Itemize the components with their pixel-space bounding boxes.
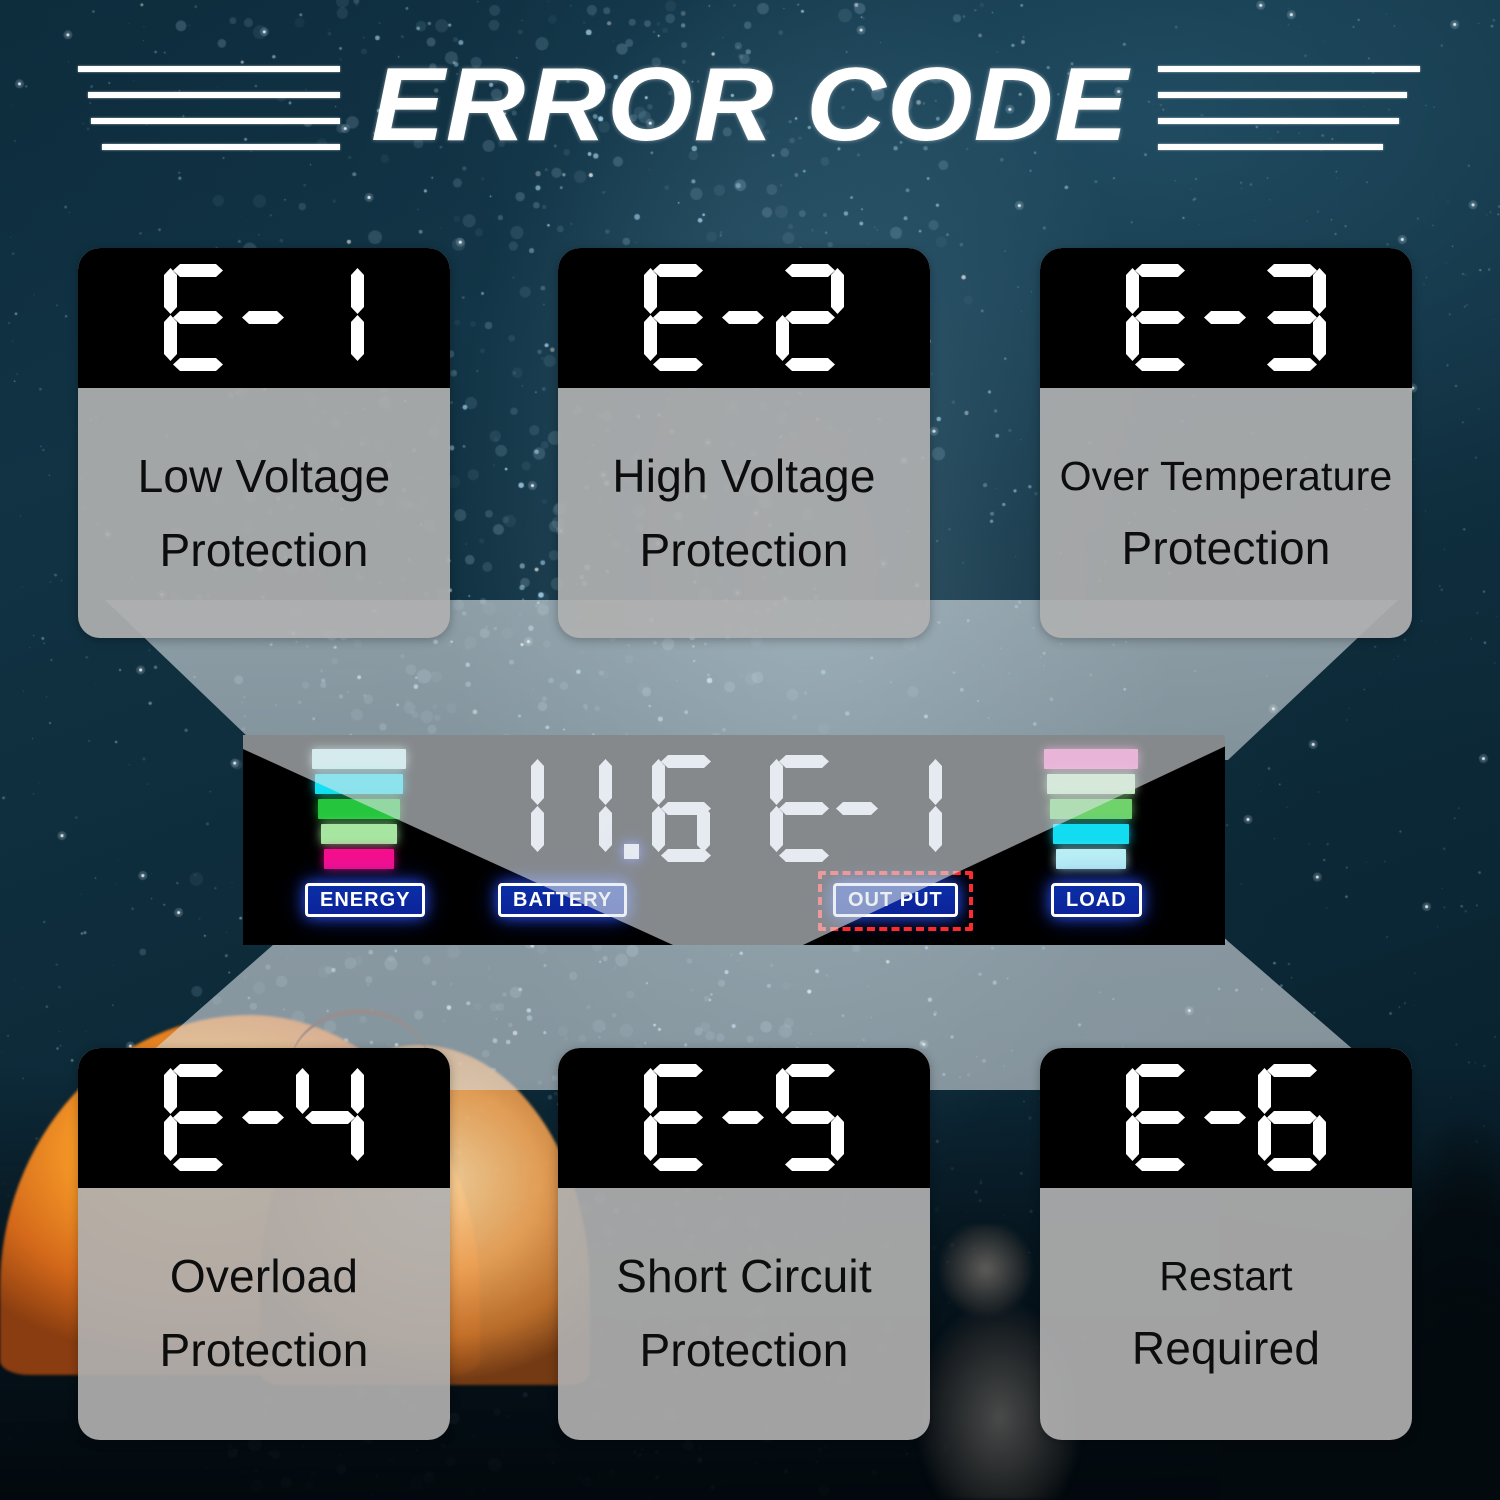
segment-f [164,268,177,314]
segment-f [1126,268,1139,314]
seven-segment-char-E [1124,1062,1196,1174]
seven-segment-char-4 [294,1062,366,1174]
segment-g [1135,311,1185,324]
segment-d [779,849,829,862]
seven-segment-char-E [162,262,234,374]
seven-segment-dash [722,1062,766,1174]
error-card-description: RestartRequired [1040,1188,1412,1438]
segment-f [644,1068,657,1114]
error-description-line-1: Short Circuit [616,1253,872,1299]
seven-segment-char-3 [1256,262,1328,374]
segment-a [1135,264,1185,277]
segment-g [1267,1111,1317,1124]
segment-b [929,759,942,805]
segment-e [770,806,783,852]
energy-label: ENERGY [305,883,425,917]
seven-segment-char-1 [882,753,944,863]
segment-g [836,802,878,815]
seven-segment-char-E [1124,262,1196,374]
energy-bar-segment-2 [315,774,403,794]
segment-e [1258,1115,1271,1161]
segment-g [785,1111,835,1124]
segment-g [173,311,223,324]
error-cards-top-row: Low VoltageProtectionHigh VoltageProtect… [0,248,1500,638]
error-code-lcd [1040,1048,1412,1188]
seven-segment-char-5 [774,1062,846,1174]
segment-b [831,268,844,314]
error-description-line-1: Low Voltage [138,453,391,499]
battery-label: BATTERY [498,883,627,917]
error-card-e-3[interactable]: Over TemperatureProtection [1040,248,1412,638]
segment-g [653,1111,703,1124]
seven-segment-char-2 [774,262,846,374]
energy-bar-segment-4 [321,824,397,844]
segment-g [722,1111,764,1124]
segment-g [779,802,829,815]
segment-a [1135,1064,1185,1077]
error-code-digits [1120,262,1332,374]
load-bar-segment-3 [1050,799,1132,819]
segment-f [1258,1068,1271,1114]
seven-segment-dash [1204,1062,1248,1174]
segment-g [1135,1111,1185,1124]
segment-d [1267,358,1317,371]
segment-b [531,759,544,805]
segment-e [644,315,657,361]
segment-g [242,1111,284,1124]
seven-segment-char-E [642,262,714,374]
error-code-digits [158,262,370,374]
lcd-display-panel: ENERGY BATTERY OUT PUT LOAD [243,735,1225,945]
load-bar-segment-2 [1047,774,1135,794]
segment-b [1313,268,1326,314]
error-code-lcd [558,248,930,388]
segment-d [1267,1158,1317,1171]
error-code-digits [638,262,850,374]
load-bar-segment-4 [1053,824,1129,844]
segment-f [644,268,657,314]
seven-segment-char-E [642,1062,714,1174]
segment-g [1204,1111,1246,1124]
seven-segment-char-6 [650,753,712,863]
error-code-digits [158,1062,370,1174]
segment-a [173,1064,223,1077]
error-description-line-2: Protection [159,1327,368,1373]
segment-e [1126,315,1139,361]
error-card-description: OverloadProtection [78,1188,450,1438]
error-card-description: Short CircuitProtection [558,1188,930,1438]
seven-segment-dash [242,1062,286,1174]
segment-g [305,1111,355,1124]
segment-f [1126,1068,1139,1114]
energy-bar-segment-1 [312,749,406,769]
segment-e [644,1115,657,1161]
segment-e [652,806,665,852]
battery-voltage-readout [481,753,715,863]
segment-g [1267,311,1317,324]
error-description-line-2: Protection [639,527,848,573]
segment-f [770,759,783,805]
seven-segment-dash [836,753,876,863]
error-code-lcd [558,1048,930,1188]
output-highlight-box [818,871,973,931]
segment-d [173,358,223,371]
seven-segment-decimal-point [620,753,644,863]
error-description-line-2: Required [1132,1325,1320,1371]
error-description-line-2: Protection [159,527,368,573]
segment-a [653,264,703,277]
segment-d [1135,358,1185,371]
error-code-lcd [78,248,450,388]
load-label: LOAD [1051,883,1142,917]
segment-c [351,1115,364,1161]
segment-g [653,311,703,324]
load-bar-segment-5 [1056,849,1126,869]
error-description-line-1: Over Temperature [1060,456,1393,497]
error-description-line-1: Restart [1159,1256,1293,1297]
segment-e [776,315,789,361]
header: ERROR CODE [0,52,1500,182]
segment-a [1267,264,1317,277]
seven-segment-char-1 [294,262,366,374]
seven-segment-char-1 [484,753,546,863]
segment-d [653,1158,703,1171]
segment-d [173,1158,223,1171]
error-code-digits [638,1062,850,1174]
segment-e [1126,1115,1139,1161]
error-card-e-6[interactable]: RestartRequired [1040,1048,1412,1440]
seven-segment-char-1 [552,753,614,863]
segment-b [351,268,364,314]
page-title: ERROR CODE [0,46,1500,165]
error-card-e-4[interactable]: OverloadProtection [78,1048,450,1440]
error-card-description: Over TemperatureProtection [1040,388,1412,638]
error-description-line-1: High Voltage [612,453,875,499]
error-cards-bottom-row: OverloadProtectionShort CircuitProtectio… [0,1048,1500,1440]
energy-bargraph [311,749,407,869]
seven-segment-char-E [162,1062,234,1174]
load-bargraph [1043,749,1139,869]
segment-f [296,1068,309,1114]
segment-e [164,315,177,361]
segment-a [661,755,711,768]
segment-g [785,311,835,324]
segment-c [599,806,612,852]
error-card-description: Low VoltageProtection [78,388,450,638]
error-card-description: High VoltageProtection [558,388,930,638]
error-code-infographic: ERROR CODE Low VoltageProtectionHigh Vol… [0,0,1500,1500]
seven-segment-char-E [768,753,830,863]
segment-c [1313,1115,1326,1161]
error-card-e-5[interactable]: Short CircuitProtection [558,1048,930,1440]
segment-g [722,311,764,324]
error-description-line-2: Protection [1121,525,1330,571]
segment-a [653,1064,703,1077]
segment-e [164,1115,177,1161]
segment-g [1204,311,1246,324]
segment-d [785,1158,835,1171]
energy-bar-segment-5 [324,849,394,869]
error-description-line-2: Protection [639,1327,848,1373]
error-code-digits [1120,1062,1332,1174]
segment-a [785,264,835,277]
segment-a [173,264,223,277]
segment-c [697,806,710,852]
segment-a [779,755,829,768]
segment-a [1267,1064,1317,1077]
segment-g [173,1111,223,1124]
load-bar-segment-1 [1044,749,1138,769]
segment-d [1135,1158,1185,1171]
segment-b [351,1068,364,1114]
segment-c [831,1115,844,1161]
segment-c [1313,315,1326,361]
seven-segment-dash [242,262,286,374]
error-code-lcd [78,1048,450,1188]
segment-c [351,315,364,361]
error-card-e-2[interactable]: High VoltageProtection [558,248,930,638]
segment-b [599,759,612,805]
segment-g [242,311,284,324]
segment-f [164,1068,177,1114]
error-card-e-1[interactable]: Low VoltageProtection [78,248,450,638]
seven-segment-dash [1204,262,1248,374]
error-description-line-1: Overload [170,1253,358,1299]
output-error-readout [765,753,947,863]
segment-f [776,1068,789,1114]
segment-d [785,358,835,371]
seven-segment-char-6 [1256,1062,1328,1174]
segment-d [653,358,703,371]
segment-a [785,1064,835,1077]
segment-f [652,759,665,805]
segment-c [531,806,544,852]
energy-bar-segment-3 [318,799,400,819]
segment-c [929,806,942,852]
seven-segment-dash [722,262,766,374]
error-code-lcd [1040,248,1412,388]
